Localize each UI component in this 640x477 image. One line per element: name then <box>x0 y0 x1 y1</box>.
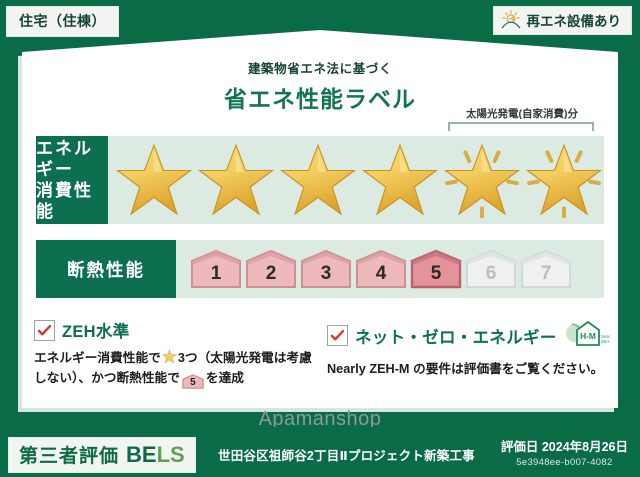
grade-chip-4: 4 <box>355 249 407 289</box>
grade-chip-5-current: 5 <box>410 249 462 289</box>
inline-star-icon <box>162 349 177 364</box>
check-icon <box>37 323 52 338</box>
evaluation-id: 5e3948ee-b007-4082 <box>501 457 628 468</box>
energy-performance-label: エネルギー 消費性能 <box>36 136 108 224</box>
energy-performance-row: エネルギー 消費性能 太陽光発電(自家消費)分 <box>36 136 604 224</box>
net-zero-checkbox <box>327 325 348 346</box>
net-zero-column: ネット・ゼロ・エネルギー H-M Nearly ZEH-M Nearly ZEH… <box>327 318 606 389</box>
insulation-performance-label: 断熱性能 <box>36 240 176 298</box>
net-zero-description: Nearly ZEH-M の要件は評価書をご覧ください。 <box>327 360 606 380</box>
zeh-m-logo-icon: H-M Nearly ZEH-M <box>564 318 610 353</box>
solar-generation-note: 太陽光発電(自家消費)分 <box>446 106 598 121</box>
grade-chip-3: 3 <box>300 249 352 289</box>
title-subtitle: 建築物省エネ法に基づく <box>0 58 640 77</box>
evaluation-date: 評価日 2024年8月26日 <box>501 436 628 455</box>
solar-bracket <box>448 122 594 131</box>
solar-star-icon <box>442 142 522 218</box>
star-icon <box>360 142 440 218</box>
star-strip <box>114 142 604 218</box>
check-icon <box>330 328 345 343</box>
project-name: 世田谷区祖師谷2丁目Ⅱプロジェクト新築工事 <box>218 445 475 464</box>
grade-chip-2: 2 <box>245 249 297 289</box>
star-icon <box>114 142 194 218</box>
inline-grade-badge: 5 <box>182 374 204 389</box>
criteria-columns: ZEH水準 エネルギー消費性能で3つ（太陽光発電は考慮しない）、かつ断熱性能で5… <box>34 318 606 389</box>
insulation-grade-area: 1 2 3 4 <box>176 240 604 298</box>
grade-chip-7: 7 <box>520 249 572 289</box>
star-icon <box>278 142 358 218</box>
grade-chip-1: 1 <box>190 249 242 289</box>
building-type-tag: 住宅（住棟） <box>6 6 119 37</box>
insulation-performance-row: 断熱性能 1 2 3 <box>36 240 604 298</box>
zeh-column: ZEH水準 エネルギー消費性能で3つ（太陽光発電は考慮しない）、かつ断熱性能で5… <box>34 318 313 389</box>
renewable-equipment-tag: 再エネ設備あり <box>493 6 633 35</box>
bels-en-label: BELS <box>126 442 185 468</box>
zeh-checkbox <box>34 320 55 341</box>
zeh-description: エネルギー消費性能で3つ（太陽光発電は考慮しない）、かつ断熱性能で5を達成 <box>34 349 313 389</box>
star-icon <box>196 142 276 218</box>
grade-chip-6: 6 <box>465 249 517 289</box>
energy-label-root: 住宅（住棟） 再エネ設備あり 建築物省エネ法に基づく 省エネ性能ラベル <box>0 0 640 477</box>
bels-jp-label: 第三者評価 <box>19 441 119 468</box>
sun-renewable-icon <box>500 10 522 30</box>
bels-badge: 第三者評価 BELS <box>8 437 196 473</box>
svg-text:H-M: H-M <box>580 331 596 341</box>
energy-stars-area: 太陽光発電(自家消費)分 <box>108 136 604 224</box>
renewable-equipment-label: 再エネ設備あり <box>527 10 622 30</box>
evaluation-info: 評価日 2024年8月26日 5e3948ee-b007-4082 <box>501 436 628 468</box>
footer-bar: 第三者評価 BELS 世田谷区祖師谷2丁目Ⅱプロジェクト新築工事 評価日 202… <box>0 427 640 477</box>
svg-text:ZEH-M: ZEH-M <box>601 339 610 344</box>
net-zero-title: ネット・ゼロ・エネルギー <box>355 324 557 348</box>
zeh-title: ZEH水準 <box>62 318 130 342</box>
net-zero-heading: ネット・ゼロ・エネルギー H-M Nearly ZEH-M <box>327 318 606 353</box>
solar-star-icon <box>524 142 604 218</box>
zeh-heading: ZEH水準 <box>34 318 313 342</box>
